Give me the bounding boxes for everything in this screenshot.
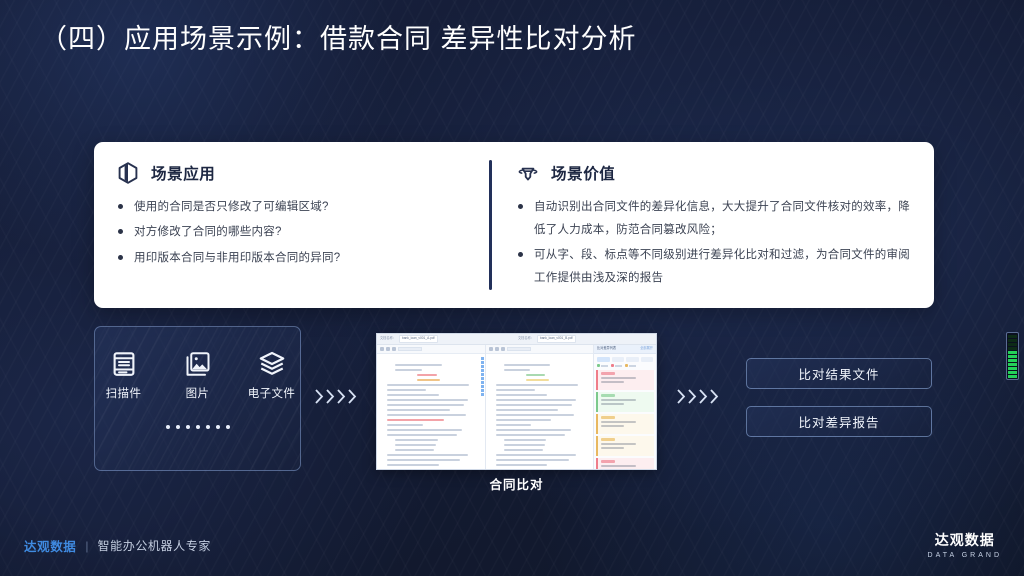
dot bbox=[186, 425, 190, 429]
screenshot-body: 比对差异列表 全部展开 bbox=[377, 345, 656, 469]
scenario-value-panel: 场景价值 自动识别出合同文件的差异化信息，大大提升了合同文件核对的效率，降低了人… bbox=[488, 142, 934, 308]
filter-chip-deleted[interactable] bbox=[626, 357, 639, 362]
footer-brand-block: 达观数据 | 智能办公机器人专家 bbox=[24, 536, 211, 555]
chevrons-right-icon bbox=[325, 388, 336, 405]
input-source-label: 扫描件 bbox=[100, 385, 148, 401]
download-icon[interactable] bbox=[392, 347, 396, 351]
flow-arrow-left bbox=[314, 388, 358, 405]
chevrons-right-icon bbox=[709, 388, 720, 405]
dot bbox=[196, 425, 200, 429]
dot bbox=[176, 425, 180, 429]
scenario-application-panel: 场景应用 使用的合同是否只修改了可编辑区域? 对方修改了合同的哪些内容? 用印版… bbox=[94, 142, 488, 308]
diff-card[interactable] bbox=[596, 458, 654, 469]
screenshot-document-pane-left bbox=[377, 345, 486, 469]
diff-list-sidebar: 比对差异列表 全部展开 bbox=[594, 345, 656, 469]
bullet-item: 使用的合同是否只修改了可编辑区域? bbox=[116, 196, 470, 218]
filter-chip-all[interactable] bbox=[597, 357, 610, 362]
dot bbox=[166, 425, 170, 429]
diff-list-title: 比对差异列表 bbox=[597, 347, 616, 350]
screenshot-left-tab-label: 文档名称： bbox=[380, 337, 396, 340]
panel-header-application: 场景应用 bbox=[116, 161, 470, 185]
cube-box-icon bbox=[116, 161, 140, 185]
input-sources-box: 扫描件 图片 电子文件 bbox=[94, 326, 301, 471]
screenshot-caption: 合同比对 bbox=[376, 474, 657, 493]
page-field[interactable] bbox=[398, 347, 422, 351]
panel-header-value: 场景价值 bbox=[516, 161, 916, 185]
diff-list-header: 比对差异列表 全部展开 bbox=[594, 345, 656, 354]
download-icon[interactable] bbox=[501, 347, 505, 351]
layers-stack-icon bbox=[257, 349, 287, 379]
zoom-icon[interactable] bbox=[489, 347, 493, 351]
input-source-list: 扫描件 图片 电子文件 bbox=[95, 327, 300, 401]
footer-logo-cn: 达观数据 bbox=[928, 530, 1002, 550]
footer-logo-en: DATA GRAND bbox=[928, 552, 1002, 559]
scrollbar-markers-left[interactable] bbox=[481, 357, 484, 467]
input-source-label: 电子文件 bbox=[248, 385, 296, 401]
screenshot-toolbar-right bbox=[486, 345, 594, 354]
more-sources-dots bbox=[95, 425, 300, 429]
screenshot-toolbar-left bbox=[377, 345, 485, 354]
footer-tagline: 智能办公机器人专家 bbox=[98, 537, 211, 554]
screenshot-right-tab-label: 文档名称： bbox=[518, 337, 534, 340]
legend-item-deleted bbox=[611, 364, 622, 367]
diff-card[interactable] bbox=[596, 414, 654, 434]
input-source-image: 图片 bbox=[174, 349, 222, 401]
panel-title-value: 场景价值 bbox=[551, 162, 615, 184]
level-meter-icon bbox=[1006, 332, 1019, 380]
diff-card[interactable] bbox=[596, 436, 654, 456]
chevrons-right-icon bbox=[314, 388, 325, 405]
input-source-electronic: 电子文件 bbox=[248, 349, 296, 401]
product-screenshot: 文档名称： bank_loan_v001_A.pdf 文档名称： bank_lo… bbox=[376, 333, 657, 470]
document-content-right bbox=[486, 354, 594, 469]
chevrons-right-icon bbox=[698, 388, 709, 405]
screenshot-tabbar: 文档名称： bank_loan_v001_A.pdf 文档名称： bank_lo… bbox=[377, 334, 656, 345]
flow-arrow-right bbox=[676, 388, 720, 405]
page-title: （四）应用场景示例：借款合同 差异性比对分析 bbox=[40, 22, 637, 57]
bullet-item: 用印版本合同与非用印版本合同的异同? bbox=[116, 247, 470, 269]
diff-card-list bbox=[594, 370, 656, 469]
diff-filter-chips bbox=[594, 354, 656, 364]
screenshot-left-tab[interactable]: bank_loan_v001_A.pdf bbox=[399, 335, 438, 342]
screenshot-right-tab[interactable]: bank_loan_v001_B.pdf bbox=[537, 335, 576, 342]
document-content-left bbox=[377, 354, 485, 469]
filter-chip-added[interactable] bbox=[612, 357, 625, 362]
chevrons-right-icon bbox=[347, 388, 358, 405]
funnel-filter-icon bbox=[516, 161, 540, 185]
filter-chip-modified[interactable] bbox=[641, 357, 654, 362]
output-button-result-file[interactable]: 比对结果文件 bbox=[746, 358, 932, 389]
print-icon[interactable] bbox=[386, 347, 390, 351]
page-field[interactable] bbox=[507, 347, 531, 351]
chevrons-right-icon bbox=[687, 388, 698, 405]
print-icon[interactable] bbox=[495, 347, 499, 351]
bullet-item: 对方修改了合同的哪些内容? bbox=[116, 221, 470, 243]
value-bullet-list: 自动识别出合同文件的差异化信息，大大提升了合同文件核对的效率，降低了人力成本，防… bbox=[516, 196, 916, 290]
footer-logo: 达观数据 DATA GRAND bbox=[928, 530, 1002, 559]
dot bbox=[206, 425, 210, 429]
legend-item-added bbox=[597, 364, 608, 367]
input-source-scanned: 扫描件 bbox=[100, 349, 148, 401]
application-bullet-list: 使用的合同是否只修改了可编辑区域? 对方修改了合同的哪些内容? 用印版本合同与非… bbox=[116, 196, 470, 269]
scanned-document-icon bbox=[109, 349, 139, 379]
process-flow: 扫描件 图片 电子文件 bbox=[0, 326, 1024, 486]
content-card: 场景应用 使用的合同是否只修改了可编辑区域? 对方修改了合同的哪些内容? 用印版… bbox=[94, 142, 934, 308]
legend-item-modified bbox=[625, 364, 636, 367]
panel-title-application: 场景应用 bbox=[151, 162, 215, 184]
diff-card[interactable] bbox=[596, 370, 654, 390]
dot bbox=[226, 425, 230, 429]
footer-separator: | bbox=[85, 539, 88, 553]
image-picture-icon bbox=[183, 349, 213, 379]
zoom-icon[interactable] bbox=[380, 347, 384, 351]
dot bbox=[216, 425, 220, 429]
input-source-label: 图片 bbox=[174, 385, 222, 401]
diff-card[interactable] bbox=[596, 392, 654, 412]
output-button-diff-report[interactable]: 比对差异报告 bbox=[746, 406, 932, 437]
bullet-item: 可从字、段、标点等不同级别进行差异化比对和过滤，为合同文件的审阅工作提供由浅及深… bbox=[516, 244, 916, 290]
screenshot-document-pane-right bbox=[486, 345, 595, 469]
chevrons-right-icon bbox=[336, 388, 347, 405]
footer-brand: 达观数据 bbox=[24, 536, 76, 555]
bullet-item: 自动识别出合同文件的差异化信息，大大提升了合同文件核对的效率，降低了人力成本，防… bbox=[516, 196, 916, 242]
expand-all-button[interactable]: 全部展开 bbox=[640, 347, 653, 350]
chevrons-right-icon bbox=[676, 388, 687, 405]
